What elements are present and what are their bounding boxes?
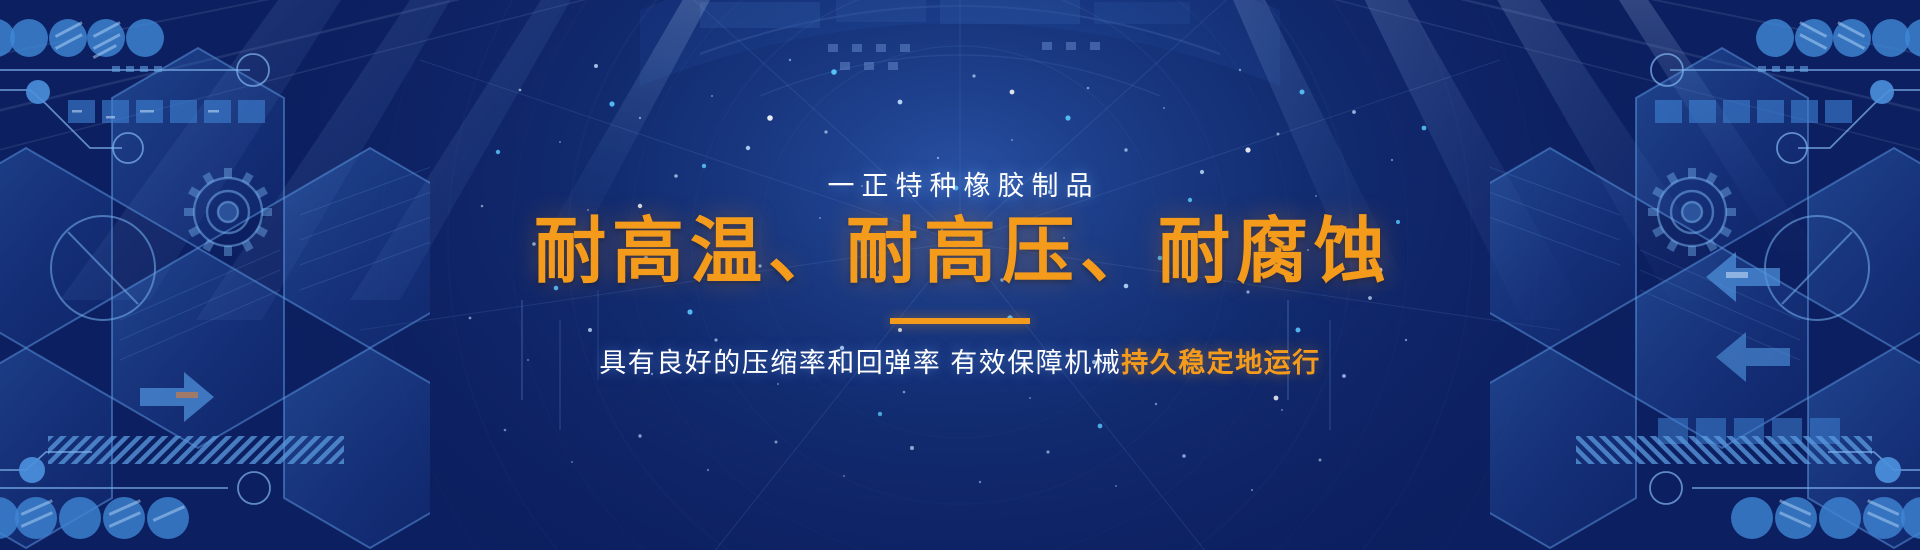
banner-eyebrow: 一正特种橡胶制品 [821,173,1100,200]
tagline-highlight: 持久稳定地运行 [1121,348,1321,378]
orange-divider [890,318,1030,324]
banner-content: 一正特种橡胶制品 耐高温、耐高压、耐腐蚀 具有良好的压缩率和回弹率 有效保障机械… [0,0,1920,550]
hero-banner: 一正特种橡胶制品 耐高温、耐高压、耐腐蚀 具有良好的压缩率和回弹率 有效保障机械… [0,0,1920,550]
banner-headline: 耐高温、耐高压、耐腐蚀 [528,216,1392,288]
tagline-plain: 具有良好的压缩率和回弹率 有效保障机械 [599,348,1121,378]
banner-tagline: 具有良好的压缩率和回弹率 有效保障机械持久稳定地运行 [599,350,1321,377]
